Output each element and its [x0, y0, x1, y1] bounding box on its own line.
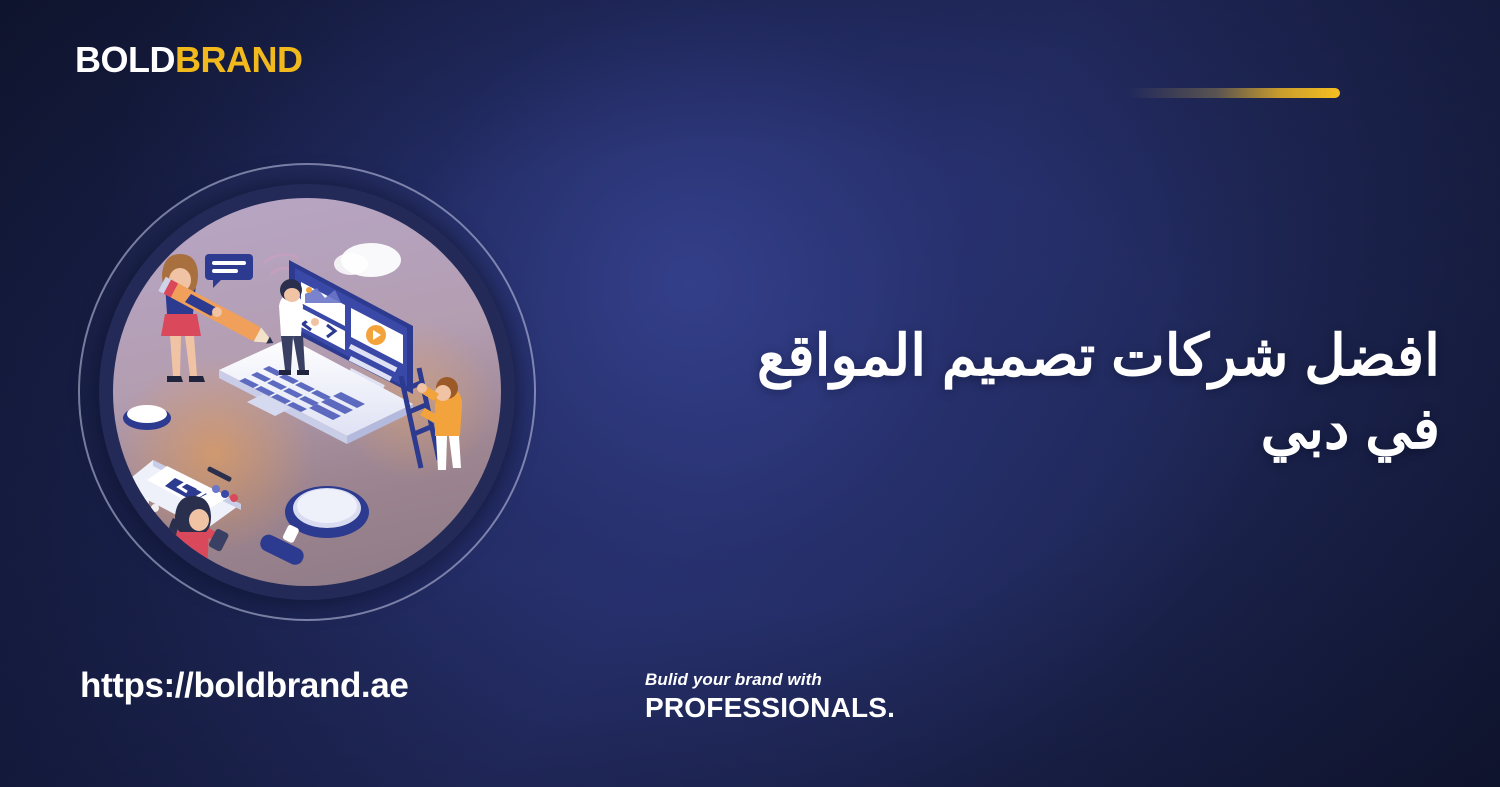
magnifier-icon	[258, 486, 369, 567]
headline-arabic: افضل شركات تصميم المواقع في دبي	[740, 320, 1440, 466]
illustration-circle	[78, 163, 536, 621]
tray-shape	[123, 405, 171, 430]
isometric-scene	[113, 198, 501, 586]
logo-text-brand: BRAND	[175, 39, 303, 80]
chat-bubble-icon	[205, 254, 253, 288]
tagline-line-1: Bulid your brand with	[645, 670, 895, 690]
logo-text-bold: BOLD	[75, 39, 175, 80]
gold-gradient-rule	[1128, 88, 1340, 98]
tagline-line-2: PROFESSIONALS.	[645, 693, 895, 722]
promo-banner: BOLDBRAND	[0, 0, 1500, 787]
laptop	[219, 260, 413, 444]
brand-logo[interactable]: BOLDBRAND	[75, 42, 303, 78]
cloud-icon	[334, 243, 401, 277]
website-url[interactable]: https://boldbrand.ae	[80, 666, 408, 706]
illustration-inner-ring	[99, 184, 515, 600]
tagline-block: Bulid your brand with PROFESSIONALS.	[645, 670, 895, 722]
